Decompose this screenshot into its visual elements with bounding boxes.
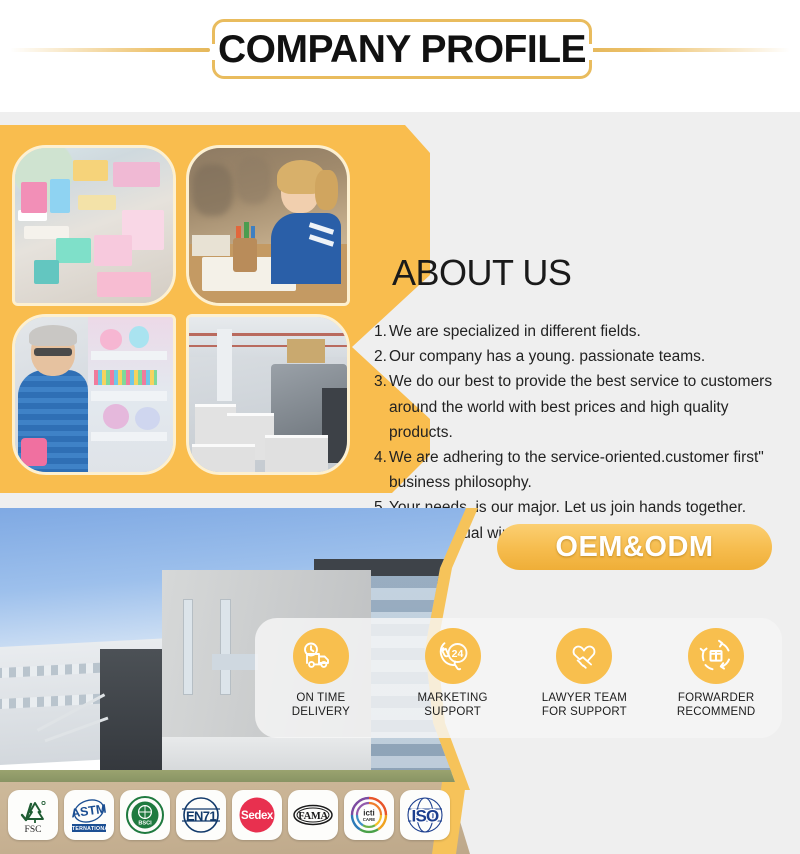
svg-text:24: 24 xyxy=(451,648,463,660)
recycle-box-icon xyxy=(688,628,744,684)
oem-odm-badge: OEM&ODM xyxy=(497,524,772,570)
about-list-item: 2. Our company has a young. passionate t… xyxy=(374,344,774,369)
service-label: MARKETING SUPPORT xyxy=(418,691,488,719)
cert-badge-iso: ISO xyxy=(400,790,450,840)
svg-text:ASTM: ASTM xyxy=(70,802,107,821)
about-list-item: 1. We are specialized in different field… xyxy=(374,319,774,344)
oem-odm-label: OEM&ODM xyxy=(555,531,713,564)
about-item-text: We are adhering to the service-oriented.… xyxy=(389,445,774,495)
cert-badge-sedex: Sedex xyxy=(232,790,282,840)
page-title-box: COMPANY PROFILE xyxy=(212,19,592,79)
about-item-number: 2. xyxy=(374,344,389,369)
about-item-number: 3. xyxy=(374,369,389,445)
about-item-text: We are specialized in different fields. xyxy=(389,319,774,344)
svg-text:CARE: CARE xyxy=(363,817,376,822)
cert-badge-fsc: FSC xyxy=(8,790,58,840)
cert-badge-astm: ASTM INTERNATIONAL xyxy=(64,790,114,840)
services-row: ON TIME DELIVERY 24 MARKETING SUPPORT xyxy=(255,618,782,738)
cert-badge-en71: EN71 xyxy=(176,790,226,840)
photo-customer-browsing-display xyxy=(12,314,176,475)
service-marketing-support[interactable]: 24 MARKETING SUPPORT xyxy=(387,618,519,738)
svg-text:EN71: EN71 xyxy=(186,809,216,824)
service-label-line1: FORWARDER xyxy=(677,691,755,705)
service-label-line2: FOR SUPPORT xyxy=(542,705,627,719)
svg-text:FSC: FSC xyxy=(25,825,42,835)
about-section: ABOUT US 1. We are specialized in differ… xyxy=(0,112,800,507)
service-label-line2: DELIVERY xyxy=(292,705,350,719)
service-lawyer-team-for-support[interactable]: LAWYER TEAM FOR SUPPORT xyxy=(519,618,651,738)
svg-text:ISO: ISO xyxy=(412,807,439,826)
svg-text:BSCI: BSCI xyxy=(138,821,152,827)
service-label-line2: RECOMMEND xyxy=(677,705,755,719)
service-on-time-delivery[interactable]: ON TIME DELIVERY xyxy=(255,618,387,738)
cert-badge-icti-care: icti CARE xyxy=(344,790,394,840)
about-item-number: 1. xyxy=(374,319,389,344)
service-label-line1: LAWYER TEAM xyxy=(542,691,627,705)
about-list-item: 4. We are adhering to the service-orient… xyxy=(374,445,774,495)
cert-badge-fama: FAMA xyxy=(288,790,338,840)
certifications-bar: FSC ASTM INTERNATIONAL BSCI xyxy=(0,782,800,854)
cert-badge-bsci: BSCI xyxy=(120,790,170,840)
header-rule-right xyxy=(590,48,790,52)
about-item-number: 4. xyxy=(374,445,389,495)
handshake-icon xyxy=(556,628,612,684)
svg-text:INTERNATIONAL: INTERNATIONAL xyxy=(68,826,110,832)
page-title: COMPANY PROFILE xyxy=(218,30,586,69)
about-list-item: 3. We do our best to provide the best se… xyxy=(374,369,774,445)
header-rule-left xyxy=(10,48,210,52)
photo-printing-factory-paper-stacks xyxy=(186,314,350,475)
about-item-text: Our company has a young. passionate team… xyxy=(389,344,774,369)
service-label: FORWARDER RECOMMEND xyxy=(677,691,755,719)
certifications-row: FSC ASTM INTERNATIONAL BSCI xyxy=(8,790,450,840)
photo-stationery-shop-shelves xyxy=(12,145,176,306)
service-label: ON TIME DELIVERY xyxy=(292,691,350,719)
svg-text:FAMA: FAMA xyxy=(298,811,328,822)
service-forwarder-recommend[interactable]: FORWARDER RECOMMEND xyxy=(650,618,782,738)
service-label-line1: ON TIME xyxy=(292,691,350,705)
page-header: COMPANY PROFILE xyxy=(0,0,800,112)
truck-clock-icon xyxy=(293,628,349,684)
photo-girl-writing-in-library xyxy=(186,145,350,306)
svg-text:Sedex: Sedex xyxy=(241,810,274,822)
service-label-line2: SUPPORT xyxy=(418,705,488,719)
phone-24h-icon: 24 xyxy=(425,628,481,684)
about-heading: ABOUT US xyxy=(392,252,571,294)
about-photo-grid xyxy=(12,145,352,475)
service-label-line1: MARKETING xyxy=(418,691,488,705)
about-item-text: We do our best to provide the best servi… xyxy=(389,369,774,445)
service-label: LAWYER TEAM FOR SUPPORT xyxy=(542,691,627,719)
